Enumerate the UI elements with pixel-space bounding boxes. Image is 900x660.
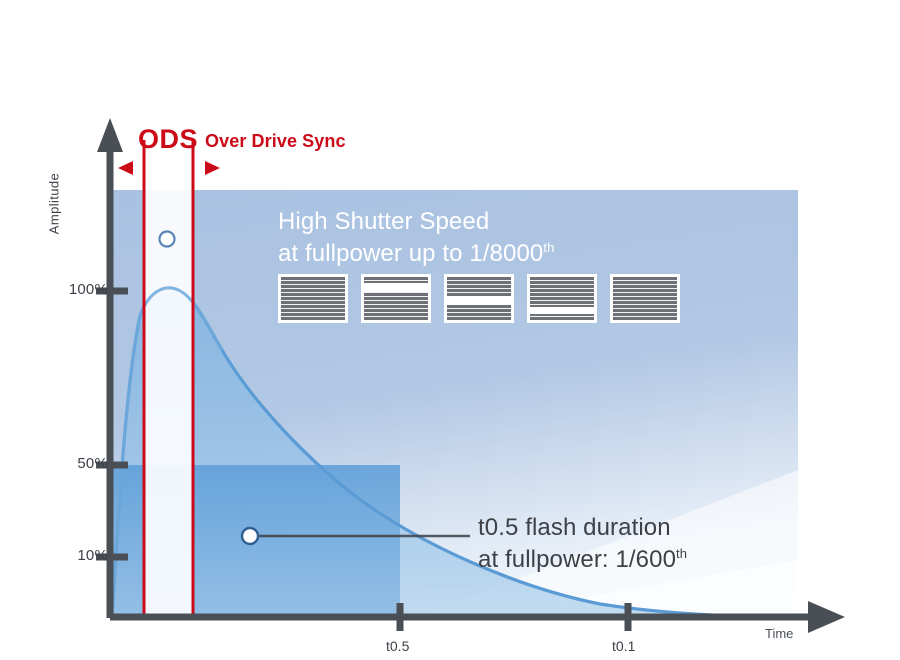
x-axis-title: Time xyxy=(765,626,793,641)
shutter-open-slit xyxy=(364,283,428,292)
callout-high-shutter-speed-line1: High Shutter Speed xyxy=(278,206,554,238)
y-tick-label-50: 50% xyxy=(48,455,108,472)
shutter-inner xyxy=(447,277,511,320)
ods-full-label: Over Drive Sync xyxy=(205,131,346,152)
shutter-inner xyxy=(281,277,345,320)
shutter-frame-3-mid-slit xyxy=(444,274,514,323)
shutter-frame-4-low-slit xyxy=(527,274,597,323)
callout-t05-flash-duration-line2-text: at fullpower: 1/600 xyxy=(478,546,676,573)
ods-abbrev-label: ODS xyxy=(138,124,198,155)
shutter-frame-5-full-closed xyxy=(610,274,680,323)
callout-t05-flash-duration: t0.5 flash duration at fullpower: 1/600t… xyxy=(478,512,687,575)
callout-t05-flash-duration-superscript: th xyxy=(676,546,687,561)
callout-t05-flash-duration-line2: at fullpower: 1/600th xyxy=(478,544,687,576)
callout-t05-flash-duration-line1: t0.5 flash duration xyxy=(478,512,687,544)
ods-span-arrow xyxy=(118,161,220,175)
shutter-inner xyxy=(613,277,677,320)
callout-high-shutter-speed: High Shutter Speed at fullpower up to 1/… xyxy=(278,206,554,269)
shutter-open-slit xyxy=(447,296,511,305)
shutter-inner xyxy=(530,277,594,320)
shutter-open-slit xyxy=(530,307,594,314)
ods-window-band xyxy=(145,190,192,617)
y-axis-title: Amplitude xyxy=(47,144,62,264)
shutter-blinds xyxy=(281,277,345,320)
callout-high-shutter-speed-line2-text: at fullpower up to 1/8000 xyxy=(278,240,543,267)
callout-high-shutter-speed-superscript: th xyxy=(543,240,554,255)
callout-high-shutter-speed-line2: at fullpower up to 1/8000th xyxy=(278,238,554,270)
y-tick-label-10: 10% xyxy=(48,547,108,564)
diagram-canvas: ODS Over Drive Sync Amplitude 100% 50% 1… xyxy=(0,0,900,660)
x-tick-label-t01: t0.1 xyxy=(612,638,635,654)
shutter-frame-1-full-open xyxy=(278,274,348,323)
shutter-inner xyxy=(364,277,428,320)
x-tick-label-t05: t0.5 xyxy=(386,638,409,654)
flash-curve-chart xyxy=(0,0,900,660)
shutter-frame-2-top-slit xyxy=(361,274,431,323)
shutter-frame-strip xyxy=(278,274,680,323)
shutter-blinds xyxy=(613,277,677,320)
y-tick-label-100: 100% xyxy=(48,281,108,298)
